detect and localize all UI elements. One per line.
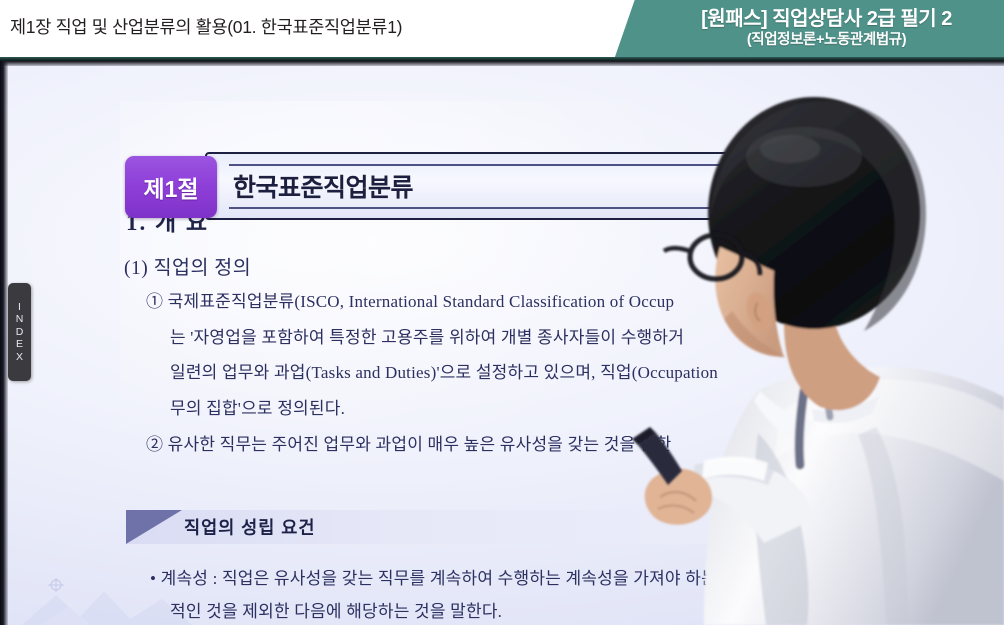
- course-banner-subtitle: (직업정보론+노동관계법규): [747, 32, 906, 49]
- subsection-header: 직업의 성립 요건: [126, 510, 826, 544]
- slide-stage: INDEX 한국표준직업분류 제1절 1. 개 요 (1) 직업의 정의 ① 국…: [0, 61, 1004, 625]
- paragraph-2-line-1: ② 유사한 직무는 주어진 업무와 과업이 매우 높은 유사성을 갖는 것을 말…: [146, 436, 672, 453]
- page-header: 제1장 직업 및 산업분류의 활용(01. 한국표준직업분류1) [원패스] 직…: [0, 0, 1004, 57]
- lecture-video-frame: 제1장 직업 및 산업분류의 활용(01. 한국표준직업분류1) [원패스] 직…: [0, 0, 1004, 625]
- chapter-title: 제1장 직업 및 산업분류의 활용(01. 한국표준직업분류1): [10, 14, 402, 39]
- subsection-title: 직업의 성립 요건: [184, 515, 315, 540]
- section-number-chip: 제1절: [125, 156, 217, 218]
- triangle-icon: [126, 510, 182, 544]
- course-banner-title: [원패스] 직업상담사 2급 필기 2: [701, 8, 952, 30]
- subheading-definition: (1) 직업의 정의: [124, 251, 251, 280]
- paragraph-1-line-2: 는 '자영업을 포함하여 특정한 고용주를 위하여 개별 종사자들이 수행하거: [170, 329, 684, 346]
- bullet-1-line-1: • 계속성 : 직업은 유사성을 갖는 직무를 계속하여 수행하는 계속성을 가…: [150, 564, 757, 589]
- bullet-1-line-2: 적인 것을 제외한 다음에 해당하는 것을 말한다.: [170, 597, 502, 622]
- paragraph-1-line-1: ① 국제표준직업분류(ISCO, International Standard …: [146, 293, 674, 310]
- paragraph-1-line-3: 일련의 업무와 과업(Tasks and Duties)'으로 설정하고 있으며…: [170, 364, 718, 381]
- section-number-label: 제1절: [143, 170, 198, 204]
- course-banner: [원패스] 직업상담사 2급 필기 2 (직업정보론+노동관계법규): [609, 0, 1004, 57]
- paragraph-1-line-4: 무의 집합'으로 정의된다.: [170, 400, 345, 417]
- slide-document: 1. 개 요 (1) 직업의 정의 ① 국제표준직업분류(ISCO, Inter…: [0, 61, 1004, 625]
